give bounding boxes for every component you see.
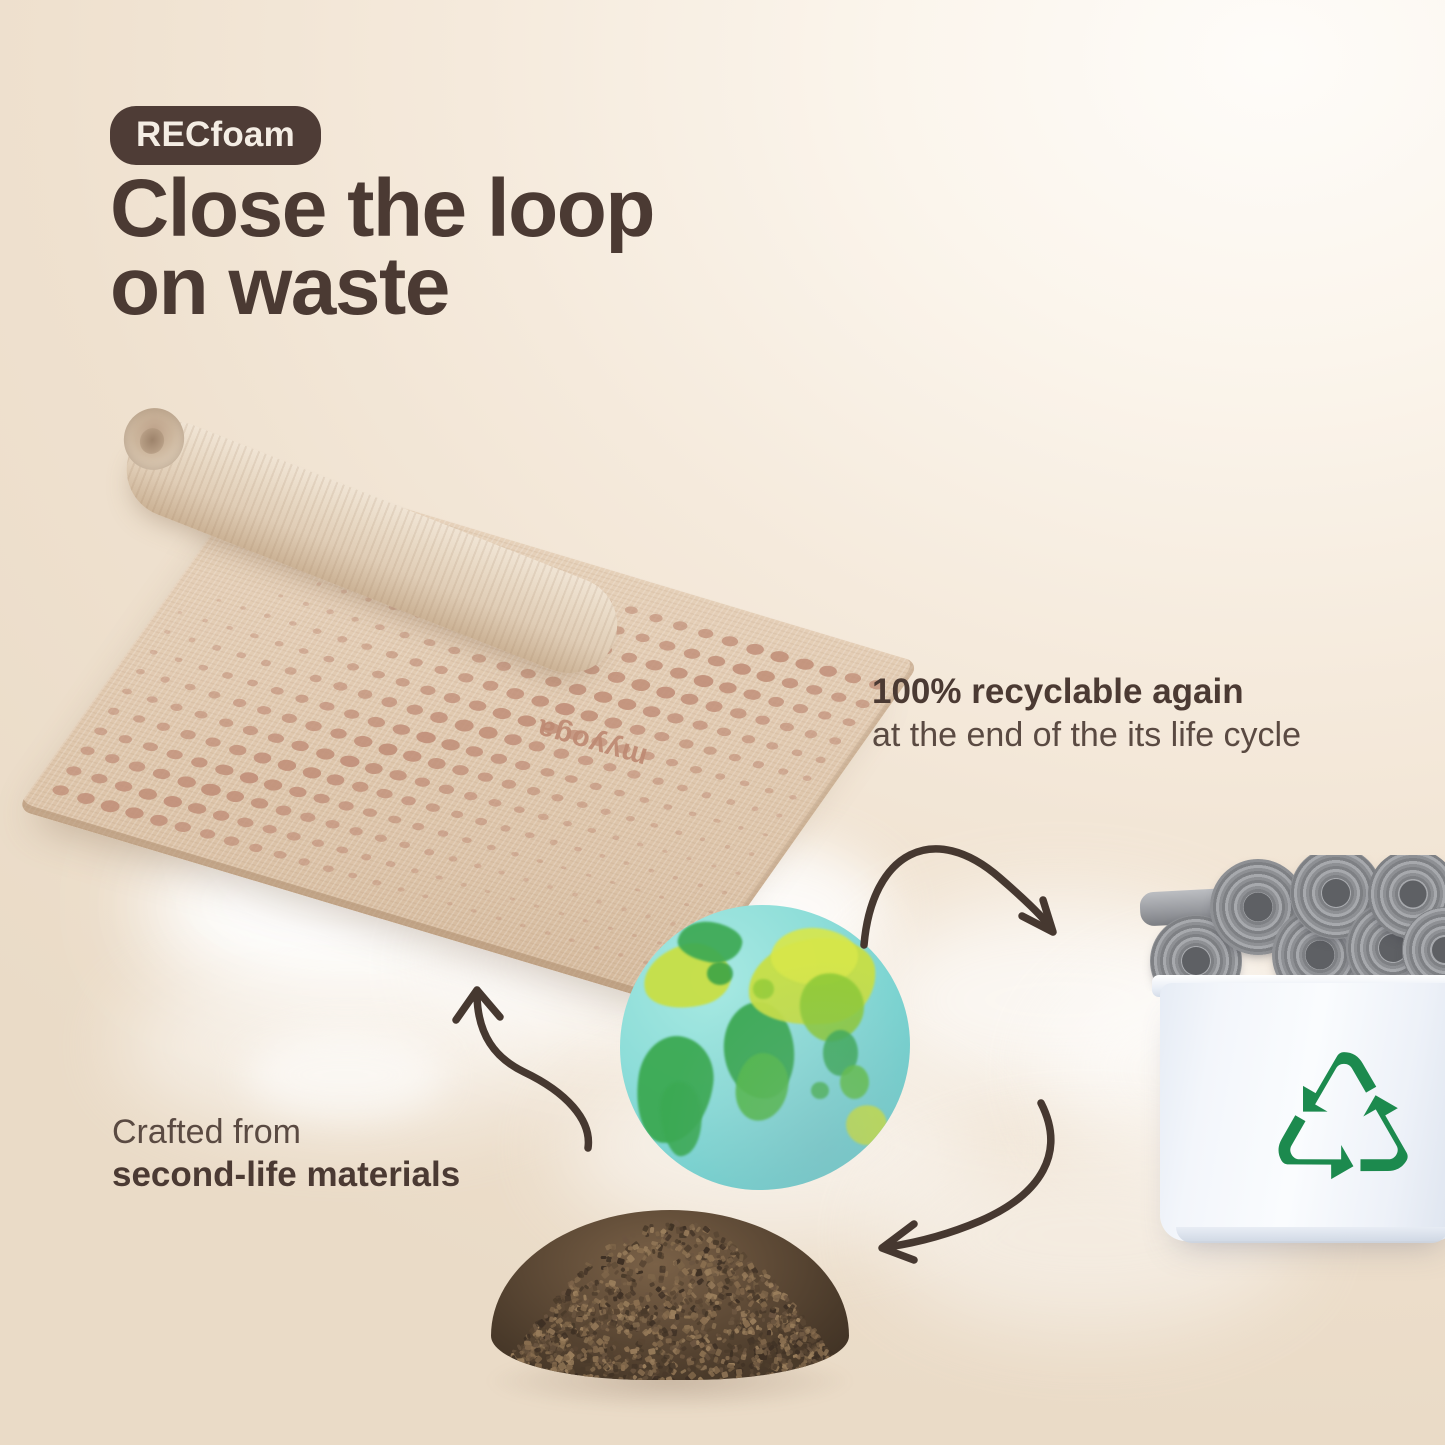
- page-title: Close the loop on waste: [110, 170, 654, 326]
- callout-crafted: Crafted from second-life materials: [112, 1112, 582, 1195]
- arrow-pellets-to-mat-head: [456, 990, 500, 1020]
- arrow-bin-to-pellets-path: [888, 1103, 1051, 1247]
- infographic-canvas: RECfoam Close the loop on waste myyoga 1…: [0, 0, 1445, 1445]
- recycled-pellets-pile: [465, 1200, 875, 1415]
- callout-crafted-line1: Crafted from: [112, 1112, 582, 1152]
- bin-foot: [1176, 1227, 1445, 1243]
- callout-recyclable-line2: at the end of the its life cycle: [872, 715, 1417, 756]
- yoga-mat-product-image: [110, 390, 940, 910]
- recycling-bin: [1118, 855, 1445, 1275]
- earth-globe-icon: [620, 905, 910, 1190]
- used-mat-rolls: [1140, 855, 1445, 991]
- arrow-bin-to-pellets-head: [882, 1224, 914, 1260]
- callout-recyclable-line1: 100% recyclable again: [872, 672, 1417, 712]
- recycle-icon: [1258, 1037, 1430, 1205]
- callout-recyclable: 100% recyclable again at the end of the …: [872, 672, 1417, 756]
- product-badge: RECfoam: [110, 106, 321, 165]
- arrow-mat-to-bin-head: [1022, 900, 1053, 932]
- pellet-mound: [491, 1210, 849, 1380]
- callout-crafted-line2: second-life materials: [112, 1154, 582, 1195]
